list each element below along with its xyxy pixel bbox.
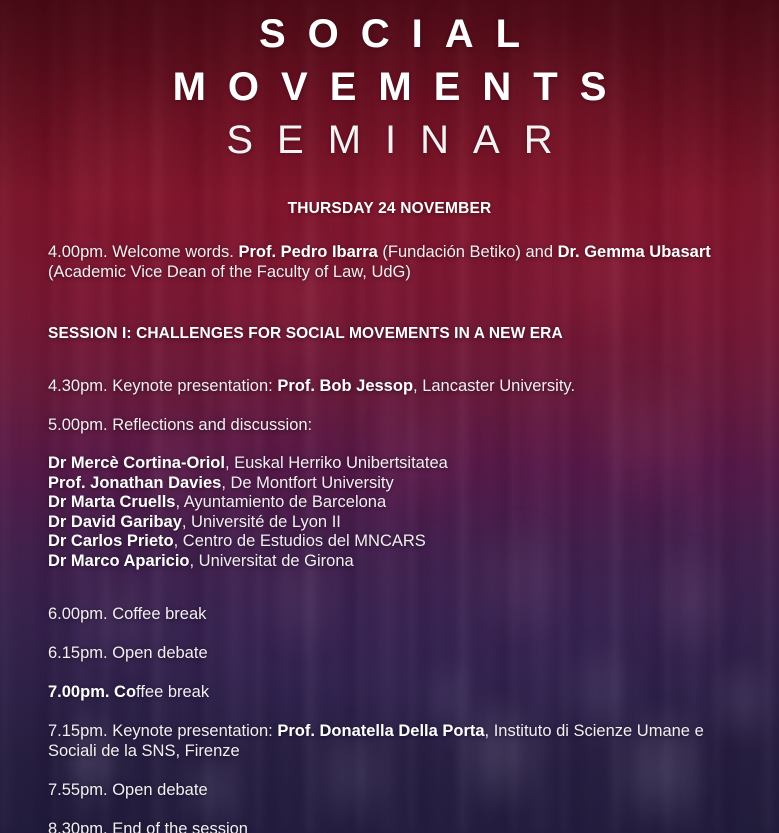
- list-item: Dr Marta Cruells, Ayuntamiento de Barcel…: [48, 493, 731, 513]
- speaker-affiliation: , Universitat de Girona: [190, 552, 354, 570]
- keynote-two-line: 7.15pm. Keynote presentation: Prof. Dona…: [48, 721, 731, 761]
- speaker-affiliation: , Centro de Estudios del MNCARS: [174, 532, 426, 550]
- speaker-name: Dr Mercè Cortina-Oriol: [48, 454, 225, 472]
- title-line-movements: MOVEMENTS: [0, 61, 779, 114]
- welcome-words-line: 4.00pm. Welcome words. Prof. Pedro Ibarr…: [48, 242, 728, 282]
- keynote-two-speaker-donatella-della-porta: Prof. Donatella Della Porta: [277, 722, 484, 740]
- speaker-affiliation: , Ayuntamiento de Barcelona: [175, 493, 386, 511]
- open-debate-two: 7.55pm. Open debate: [48, 780, 731, 800]
- coffee-break-two-rest: ffee break: [136, 683, 209, 701]
- coffee-break-two: 7.00pm. Coffee break: [48, 682, 731, 702]
- session-one-heading: SESSION I: CHALLENGES FOR SOCIAL MOVEMEN…: [48, 324, 731, 344]
- welcome-speaker-pedro-ibarra-affiliation: (Fundación Betiko) and: [378, 243, 558, 261]
- speaker-affiliation: , De Montfort University: [221, 474, 393, 492]
- heading-spacer: [48, 363, 731, 376]
- speaker-affiliation: , Euskal Herriko Unibertsitatea: [225, 454, 448, 472]
- coffee-break-two-bold-part: 7.00pm. Co: [48, 683, 136, 701]
- speaker-name: Dr Carlos Prieto: [48, 532, 174, 550]
- schedule-body: 4.00pm. Welcome words. Prof. Pedro Ibarr…: [0, 242, 779, 833]
- speaker-affiliation: , Université de Lyon II: [182, 513, 341, 531]
- welcome-speaker-pedro-ibarra: Prof. Pedro Ibarra: [238, 243, 377, 261]
- keynote-one-prefix: 4.30pm. Keynote presentation:: [48, 377, 277, 395]
- keynote-two-prefix: 7.15pm. Keynote presentation:: [48, 722, 277, 740]
- coffee-break-one: 6.00pm. Coffee break: [48, 604, 731, 624]
- keynote-one-speaker-bob-jessop: Prof. Bob Jessop: [277, 377, 413, 395]
- welcome-speaker-gemma-ubasart: Dr. Gemma Ubasart: [558, 243, 711, 261]
- keynote-one-line: 4.30pm. Keynote presentation: Prof. Bob …: [48, 376, 728, 396]
- title-line-seminar: SEMINAR: [0, 114, 779, 167]
- list-item: Dr Marco Aparicio, Universitat de Girona: [48, 552, 731, 572]
- list-item: Dr David Garibay, Université de Lyon II: [48, 513, 731, 533]
- list-item: Dr Mercè Cortina-Oriol, Euskal Herriko U…: [48, 454, 731, 474]
- welcome-time-label: 4.00pm. Welcome words.: [48, 243, 238, 261]
- panel-speaker-list: Dr Mercè Cortina-Oriol, Euskal Herriko U…: [48, 454, 731, 572]
- section-spacer: [48, 301, 731, 324]
- keynote-one-affiliation: , Lancaster University.: [413, 377, 575, 395]
- title-line-social: SOCIAL: [0, 8, 779, 61]
- seminar-poster: SOCIAL MOVEMENTS SEMINAR THURSDAY 24 NOV…: [0, 0, 779, 833]
- speaker-name: Dr Marco Aparicio: [48, 552, 190, 570]
- reflections-label: 5.00pm. Reflections and discussion:: [48, 415, 728, 435]
- speaker-name: Dr Marta Cruells: [48, 493, 175, 511]
- end-of-session: 8.30pm. End of the session: [48, 819, 731, 833]
- list-item: Dr Carlos Prieto, Centro de Estudios del…: [48, 532, 731, 552]
- list-spacer: [48, 591, 731, 604]
- open-debate-one: 6.15pm. Open debate: [48, 643, 731, 663]
- list-item: Prof. Jonathan Davies, De Montfort Unive…: [48, 474, 731, 494]
- welcome-speaker-gemma-ubasart-affiliation: (Academic Vice Dean of the Faculty of La…: [48, 263, 411, 281]
- speaker-name: Prof. Jonathan Davies: [48, 474, 221, 492]
- poster-content: SOCIAL MOVEMENTS SEMINAR THURSDAY 24 NOV…: [0, 0, 779, 833]
- poster-title-block: SOCIAL MOVEMENTS SEMINAR: [0, 0, 779, 167]
- speaker-name: Dr David Garibay: [48, 513, 182, 531]
- event-date: THURSDAY 24 NOVEMBER: [0, 200, 779, 218]
